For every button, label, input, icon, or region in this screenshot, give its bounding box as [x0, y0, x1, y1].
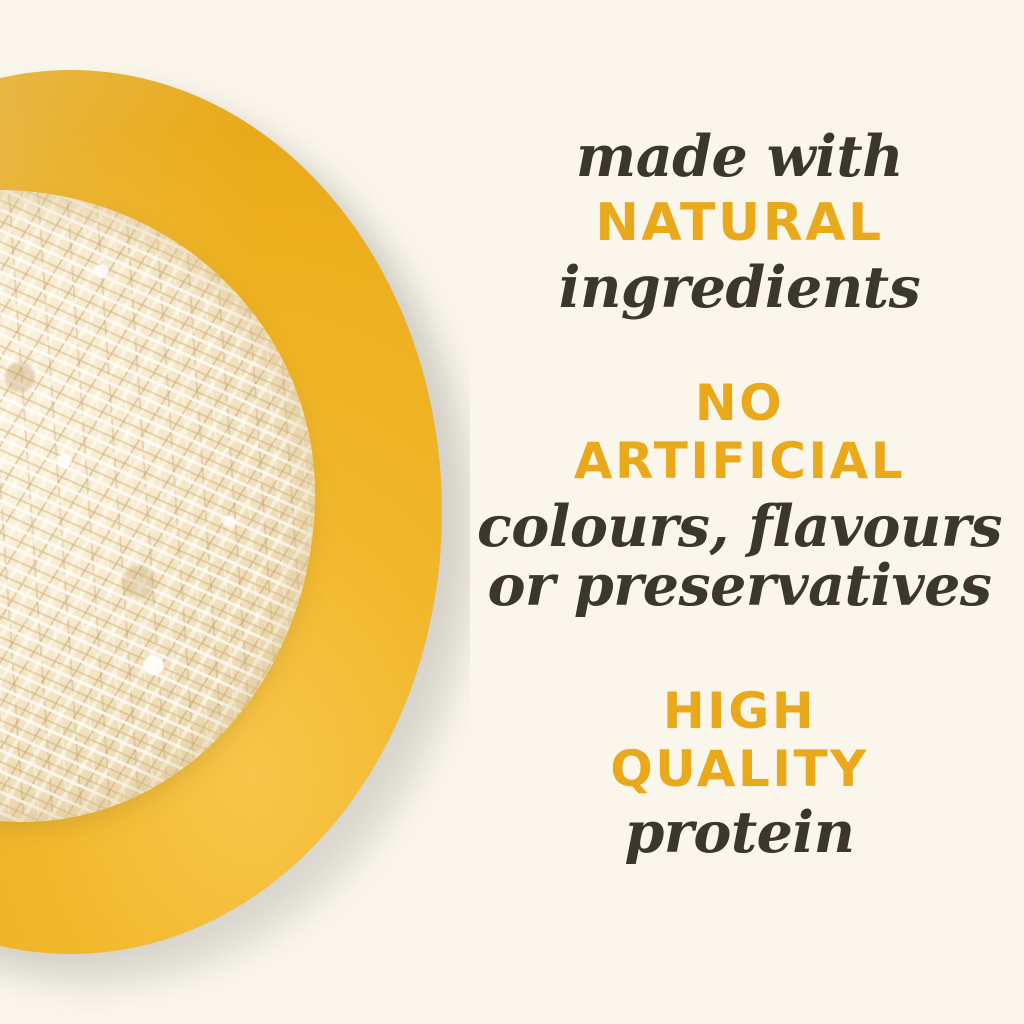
claim-high-quality-protein: HIGH QUALITY protein [455, 686, 1024, 861]
quality-line: QUALITY [455, 744, 1024, 794]
claim-natural-ingredients: made with NATURAL ingredients [455, 128, 1024, 316]
made-with-line: made with [455, 128, 1024, 185]
ingredients-line: ingredients [455, 259, 1024, 316]
protein-line: protein [455, 804, 1024, 861]
artificial-line: ARTIFICIAL [455, 436, 1024, 486]
or-preservatives-line: or preservatives [455, 557, 1024, 614]
high-line: HIGH [455, 686, 1024, 736]
colours-flavours-line: colours, flavours [455, 498, 1024, 555]
no-line: NO [455, 378, 1024, 428]
product-benefits-panel: made with NATURAL ingredients NO ARTIFIC… [0, 0, 1024, 1024]
product-photo [0, 0, 470, 1024]
claim-no-artificial: NO ARTIFICIAL colours, flavours or prese… [455, 378, 1024, 614]
claims-column: made with NATURAL ingredients NO ARTIFIC… [455, 0, 1024, 1024]
shredded-chicken-and-rice [0, 190, 315, 822]
natural-line: NATURAL [455, 197, 1024, 249]
